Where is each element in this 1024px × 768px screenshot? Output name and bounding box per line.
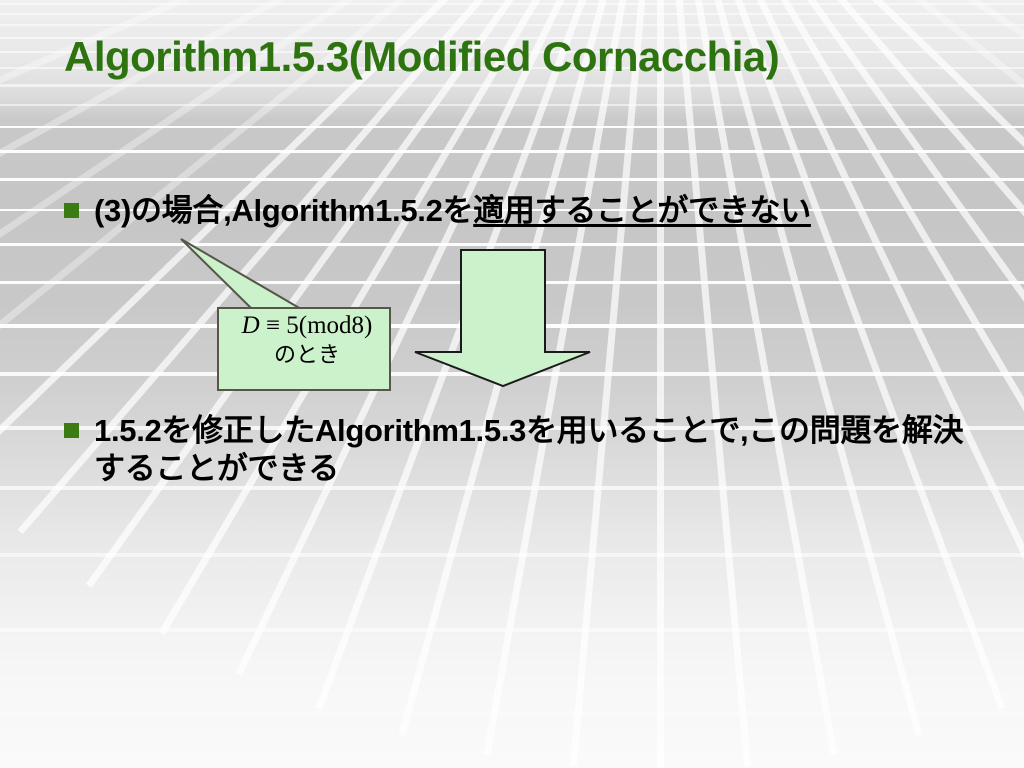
formula-expression: ≡ 5(mod8) <box>260 312 373 339</box>
callout-tail <box>181 239 301 309</box>
shapes-layer <box>0 0 1024 768</box>
bullet-1-underlined: 適用することができない <box>473 193 811 228</box>
bullet-1-text: (3)の場合,Algorithm1.5.2を適用することができない <box>94 192 811 230</box>
down-block-arrow <box>415 250 590 386</box>
square-bullet-icon <box>64 423 79 438</box>
callout-sublabel: のとき <box>222 342 392 368</box>
callout-text-group: D ≡ 5(mod8) のとき <box>222 312 392 368</box>
square-bullet-icon <box>64 203 79 218</box>
bullet-item-1: (3)の場合,Algorithm1.5.2を適用することができない <box>64 192 964 230</box>
bullet-2-plain: 1.5.2を修正したAlgorithm1.5.3を用いることで,この問題を解決す… <box>94 413 963 486</box>
bullet-item-2: 1.5.2を修正したAlgorithm1.5.3を用いることで,この問題を解決す… <box>64 412 964 488</box>
formula-variable: D <box>242 312 260 339</box>
bullet-1-plain: (3)の場合,Algorithm1.5.2を <box>94 193 473 228</box>
bullet-2-text: 1.5.2を修正したAlgorithm1.5.3を用いることで,この問題を解決す… <box>94 412 964 488</box>
slide-canvas: Algorithm1.5.3(Modified Cornacchia) D ≡ … <box>0 0 1024 768</box>
callout-formula: D ≡ 5(mod8) <box>222 312 392 341</box>
